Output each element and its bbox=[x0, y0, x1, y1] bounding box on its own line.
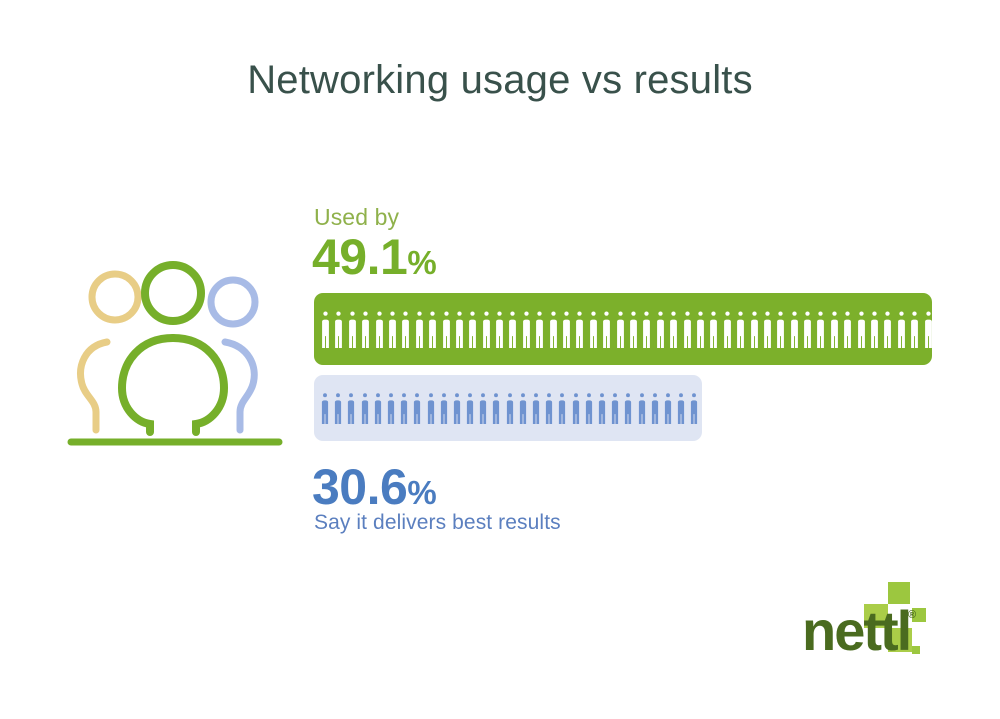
person-pictogram bbox=[856, 310, 867, 348]
person-pictogram bbox=[561, 310, 572, 348]
results-label: Say it delivers best results bbox=[314, 511, 561, 535]
person-pictogram bbox=[571, 392, 581, 424]
person-pictogram bbox=[347, 310, 358, 348]
person-pictogram bbox=[641, 310, 652, 348]
person-pictogram bbox=[584, 392, 594, 424]
person-pictogram bbox=[360, 392, 370, 424]
results-percent-symbol: % bbox=[407, 474, 436, 511]
person-pictogram bbox=[481, 310, 492, 348]
person-pictogram bbox=[909, 310, 920, 348]
person-pictogram bbox=[454, 310, 465, 348]
person-pictogram bbox=[689, 392, 699, 424]
person-pictogram bbox=[427, 310, 438, 348]
person-pictogram bbox=[399, 392, 409, 424]
pictogram-row-green bbox=[320, 310, 932, 348]
person-pictogram bbox=[882, 310, 893, 348]
person-pictogram bbox=[663, 392, 673, 424]
person-pictogram bbox=[829, 310, 840, 348]
person-pictogram bbox=[374, 310, 385, 348]
person-pictogram bbox=[682, 310, 693, 348]
person-pictogram bbox=[869, 310, 880, 348]
results-number: 30.6 bbox=[312, 459, 407, 515]
person-pictogram bbox=[320, 310, 331, 348]
person-pictogram bbox=[802, 310, 813, 348]
person-pictogram bbox=[494, 310, 505, 348]
used-by-number: 49.1 bbox=[312, 229, 407, 285]
person-pictogram bbox=[601, 310, 612, 348]
person-pictogram bbox=[491, 392, 501, 424]
person-pictogram bbox=[426, 392, 436, 424]
nettl-logo: nettl ® bbox=[800, 578, 955, 658]
person-pictogram bbox=[478, 392, 488, 424]
person-pictogram bbox=[735, 310, 746, 348]
person-pictogram bbox=[655, 310, 666, 348]
person-pictogram bbox=[467, 310, 478, 348]
person-pictogram bbox=[637, 392, 647, 424]
used-by-value: 49.1% bbox=[312, 232, 436, 282]
person-pictogram bbox=[387, 310, 398, 348]
person-pictogram bbox=[534, 310, 545, 348]
page-title: Networking usage vs results bbox=[0, 58, 1000, 103]
used-by-label: Used by bbox=[314, 204, 399, 231]
person-pictogram bbox=[333, 392, 343, 424]
person-pictogram bbox=[789, 310, 800, 348]
person-pictogram bbox=[842, 310, 853, 348]
person-pictogram bbox=[452, 392, 462, 424]
person-pictogram bbox=[775, 310, 786, 348]
person-pictogram bbox=[548, 310, 559, 348]
pictogram-row-blue bbox=[320, 392, 702, 424]
person-pictogram bbox=[505, 392, 515, 424]
person-pictogram bbox=[320, 392, 330, 424]
person-pictogram bbox=[628, 310, 639, 348]
person-pictogram bbox=[386, 392, 396, 424]
person-pictogram bbox=[623, 392, 633, 424]
person-pictogram bbox=[507, 310, 518, 348]
person-pictogram bbox=[610, 392, 620, 424]
person-pictogram bbox=[531, 392, 541, 424]
person-pictogram bbox=[373, 392, 383, 424]
person-pictogram bbox=[414, 310, 425, 348]
person-pictogram bbox=[762, 310, 773, 348]
person-pictogram bbox=[441, 310, 452, 348]
person-pictogram bbox=[676, 392, 686, 424]
person-pictogram bbox=[574, 310, 585, 348]
person-pictogram bbox=[521, 310, 532, 348]
person-pictogram bbox=[708, 310, 719, 348]
person-pictogram bbox=[815, 310, 826, 348]
person-pictogram bbox=[923, 310, 932, 348]
person-pictogram bbox=[668, 310, 679, 348]
person-pictogram bbox=[695, 310, 706, 348]
person-pictogram bbox=[597, 392, 607, 424]
person-pictogram bbox=[749, 310, 760, 348]
person-pictogram bbox=[588, 310, 599, 348]
person-pictogram bbox=[896, 310, 907, 348]
bar-used-by bbox=[314, 293, 932, 365]
bar-best-results bbox=[314, 375, 702, 441]
results-value: 30.6% bbox=[312, 462, 436, 512]
person-pictogram bbox=[615, 310, 626, 348]
person-pictogram bbox=[557, 392, 567, 424]
person-pictogram bbox=[465, 392, 475, 424]
person-pictogram bbox=[400, 310, 411, 348]
logo-trademark-symbol: ® bbox=[908, 609, 916, 621]
person-pictogram bbox=[650, 392, 660, 424]
person-pictogram bbox=[346, 392, 356, 424]
person-pictogram bbox=[544, 392, 554, 424]
person-pictogram bbox=[722, 310, 733, 348]
used-by-percent-symbol: % bbox=[407, 244, 436, 281]
person-pictogram bbox=[360, 310, 371, 348]
person-pictogram bbox=[518, 392, 528, 424]
infographic-canvas: Networking usage vs results Used b bbox=[0, 0, 1000, 719]
people-group-icon bbox=[60, 250, 290, 450]
logo-wordmark: nettl bbox=[802, 599, 910, 658]
person-pictogram bbox=[333, 310, 344, 348]
person-pictogram bbox=[412, 392, 422, 424]
person-pictogram bbox=[439, 392, 449, 424]
